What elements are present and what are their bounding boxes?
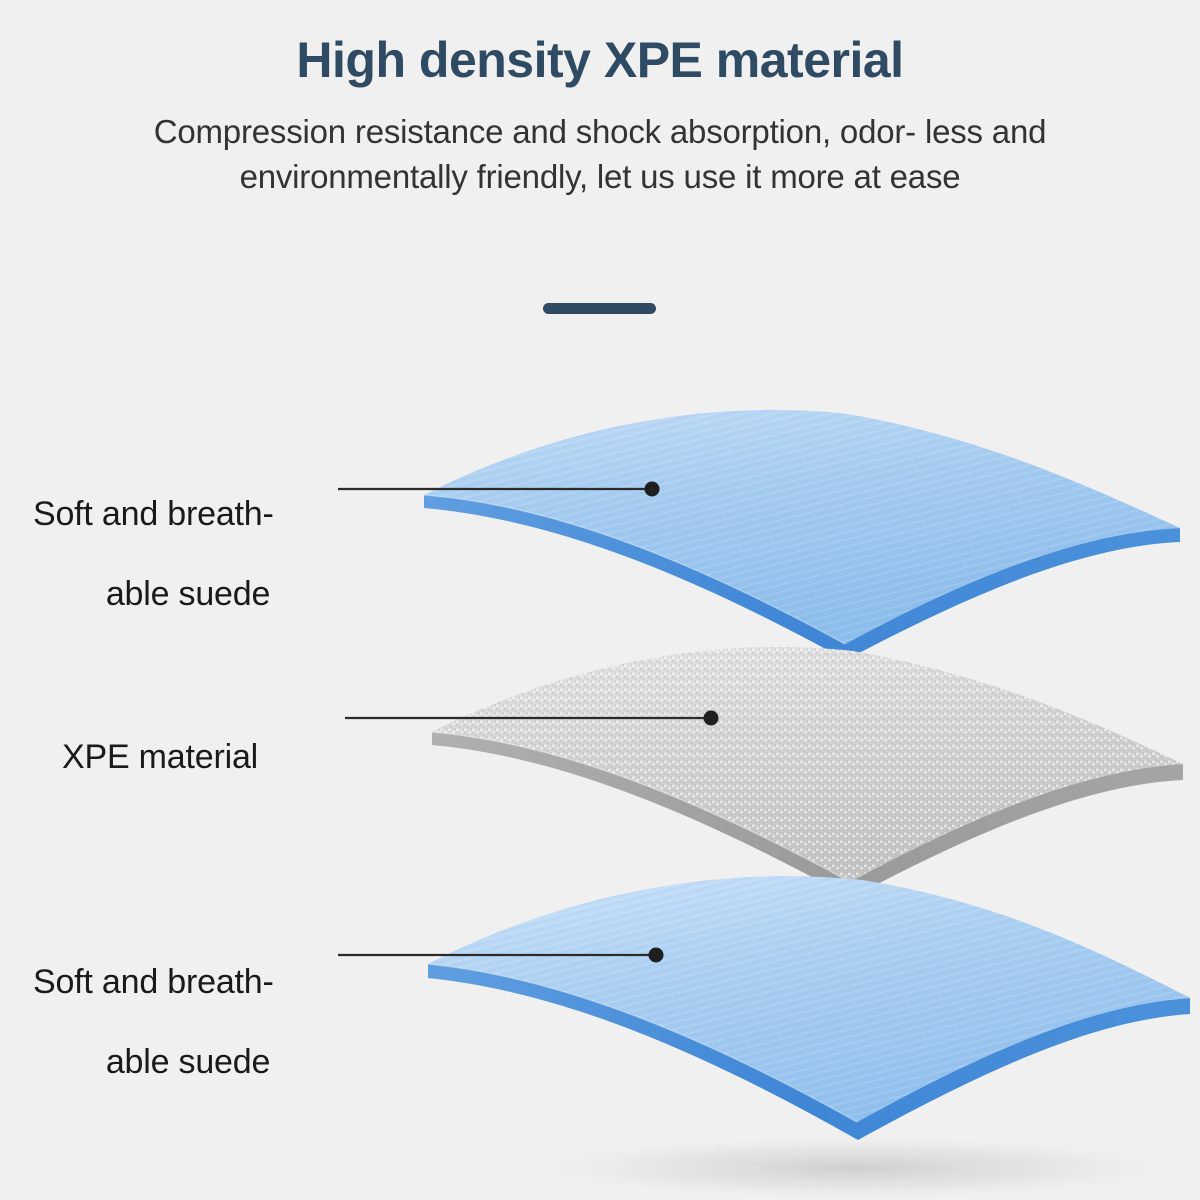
layer-xpe-core: [432, 647, 1183, 898]
callout-label-xpe: XPE material: [62, 697, 322, 817]
ground-shadow: [510, 1134, 1200, 1200]
callout-label-suede-bottom: Soft and breath- able suede: [33, 922, 343, 1123]
callout-xpe-line-1: XPE material: [62, 737, 322, 777]
callout-suede-top-line-2: able suede: [33, 574, 343, 614]
leader-dot-suede-bottom: [649, 948, 664, 963]
callout-label-suede-top: Soft and breath- able suede: [33, 454, 343, 655]
callout-suede-bottom-line-2: able suede: [33, 1042, 343, 1082]
callout-suede-top-line-1: Soft and breath-: [33, 494, 343, 534]
infographic-root: High density XPE material Compression re…: [0, 0, 1200, 1200]
layer-suede-bottom: [428, 876, 1190, 1140]
leader-dot-xpe: [704, 711, 719, 726]
layer-suede-top: [424, 410, 1180, 660]
leader-dot-suede-top: [645, 482, 660, 497]
callout-suede-bottom-line-1: Soft and breath-: [33, 962, 343, 1002]
